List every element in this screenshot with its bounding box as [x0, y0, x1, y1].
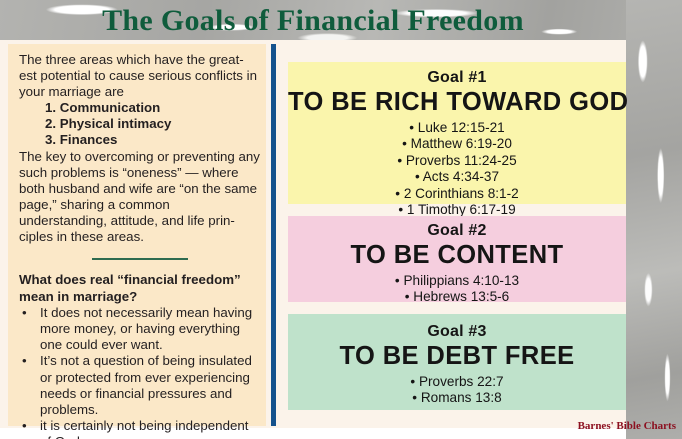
- goal-references: • Luke 12:15-21 • Matthew 6:19-20 • Prov…: [288, 120, 626, 218]
- goal-panel-1: Goal #1 TO BE RICH TOWARD GOD • Luke 12:…: [288, 62, 626, 204]
- list-item: • It does not necessarily mean having mo…: [19, 305, 260, 353]
- bullet-icon: •: [22, 418, 27, 434]
- list-item: • Hebrews 13:5-6: [288, 289, 626, 305]
- financial-freedom-question: What does real “financial freedom” mean …: [19, 272, 260, 305]
- goal-references: • Philippians 4:10-13 • Hebrews 13:5-6: [288, 273, 626, 306]
- three-areas-list: 1. Communication 2. Physical intimacy 3.…: [19, 100, 260, 148]
- goal-panel-2: Goal #2 TO BE CONTENT • Philippians 4:10…: [288, 216, 626, 302]
- list-item-label: It does not necessarily mean having more…: [40, 305, 252, 352]
- list-item-label: Communication: [60, 100, 160, 115]
- list-item: • Luke 12:15-21: [288, 120, 626, 136]
- page-title: The Goals of Financial Freedom: [0, 2, 626, 40]
- list-item: 2. Physical intimacy: [19, 116, 260, 132]
- list-item-label: Finances: [60, 132, 118, 147]
- left-text-panel: The three areas which have the great-est…: [8, 44, 266, 426]
- section-divider-rule: [92, 258, 188, 260]
- bullet-icon: •: [22, 353, 27, 369]
- list-item-label: it is certainly not being independent of…: [40, 418, 248, 439]
- goal-number: Goal #1: [288, 68, 626, 87]
- goal-title: TO BE RICH TOWARD GOD: [288, 87, 626, 117]
- list-item: 1. Communication: [19, 100, 260, 116]
- list-item-number: 3.: [45, 132, 56, 147]
- stone-border-right: [626, 0, 682, 439]
- list-item: • Philippians 4:10-13: [288, 273, 626, 289]
- vertical-divider: [271, 44, 276, 426]
- financial-freedom-bullets: • It does not necessarily mean having mo…: [19, 305, 260, 439]
- oneness-paragraph: The key to overcoming or preventing any …: [19, 149, 260, 246]
- credit-line: Barnes' Bible Charts: [578, 420, 676, 433]
- list-item: • it is certainly not being independent …: [19, 418, 260, 439]
- list-item: 3. Finances: [19, 132, 260, 148]
- list-item: • Proverbs 11:24-25: [288, 153, 626, 169]
- list-item-number: 1.: [45, 100, 56, 115]
- list-item-label: It’s not a question of being insulated o…: [40, 353, 252, 416]
- goal-references: • Proverbs 22:7 • Romans 13:8: [288, 374, 626, 407]
- list-item: • 2 Corinthians 8:1-2: [288, 186, 626, 202]
- financial-freedom-chart: The Goals of Financial Freedom The three…: [0, 0, 682, 439]
- list-item: • Matthew 6:19-20: [288, 136, 626, 152]
- bullet-icon: •: [22, 305, 27, 321]
- list-item: • It’s not a question of being insulated…: [19, 353, 260, 417]
- list-item-number: 2.: [45, 116, 56, 131]
- goal-number: Goal #3: [288, 322, 626, 341]
- list-item: • Proverbs 22:7: [288, 374, 626, 390]
- goal-panel-3: Goal #3 TO BE DEBT FREE • Proverbs 22:7 …: [288, 314, 626, 410]
- list-item: • Acts 4:34-37: [288, 169, 626, 185]
- goal-number: Goal #2: [288, 221, 626, 240]
- list-item-label: Physical intimacy: [60, 116, 172, 131]
- list-item: • Romans 13:8: [288, 390, 626, 406]
- goal-title: TO BE CONTENT: [288, 240, 626, 270]
- goal-title: TO BE DEBT FREE: [288, 341, 626, 371]
- intro-paragraph: The three areas which have the great-est…: [19, 52, 260, 100]
